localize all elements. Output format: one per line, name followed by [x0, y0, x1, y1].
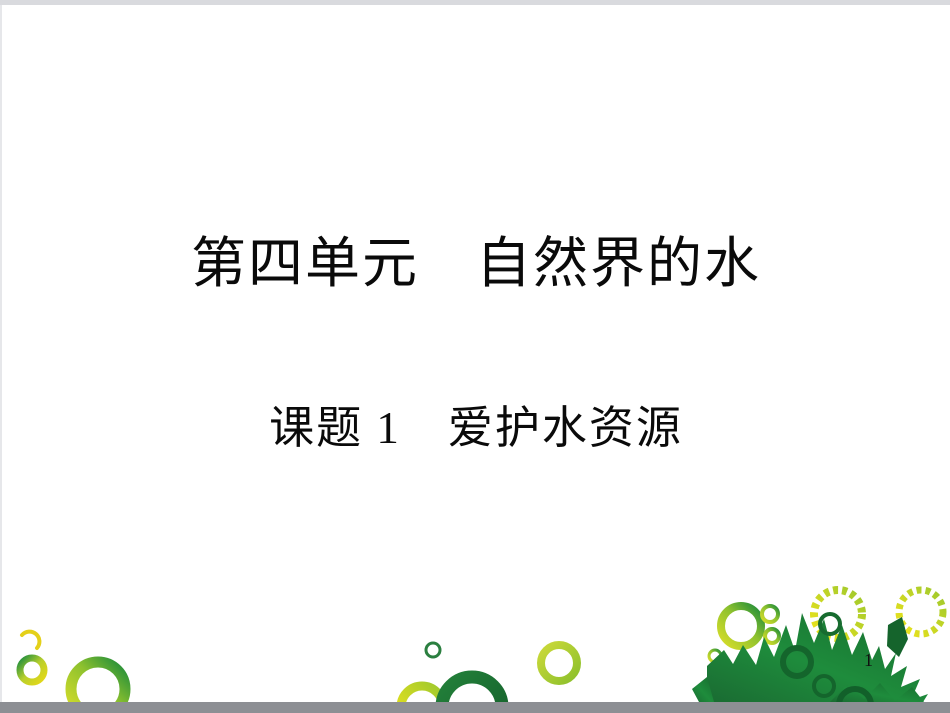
ring-above-leaf-right: [899, 590, 943, 634]
ring-bottom-left-small: [20, 658, 44, 682]
page-number: 1: [864, 650, 873, 671]
ring-near-leaf-large: [721, 606, 761, 646]
ring-leaf-inner-a: [783, 648, 811, 676]
decorative-artwork: [2, 5, 950, 702]
ring-leaf-inner-d: [820, 614, 840, 634]
slide-root: 第四单元 自然界的水 课题 1 爱护水资源 1: [0, 0, 950, 713]
ring-near-leaf-small: [762, 606, 778, 622]
ring-leaf-inner-b: [814, 676, 834, 696]
ring-near-leaf-xsmall: [765, 629, 779, 643]
ring-near-leaf-tiny: [709, 650, 721, 662]
slide-canvas: 第四单元 自然界的水 课题 1 爱护水资源: [2, 5, 950, 702]
ring-bottom-left-large: [71, 662, 125, 702]
ring-bottom-left-small-arc: [22, 632, 39, 648]
slide-subtitle: 课题 1 爱护水资源: [2, 403, 950, 455]
ring-mid-tiny: [426, 643, 440, 657]
circle-yellow-gradient: [732, 673, 786, 702]
ring-leaf-inner-c: [839, 689, 871, 702]
green-maple-leaf: [692, 613, 928, 702]
slide-title: 第四单元 自然界的水: [2, 233, 950, 295]
ring-center-yellowgreen: [541, 645, 577, 681]
ring-mid-green-large: [442, 677, 502, 702]
window-bottom-bar: [0, 702, 950, 713]
ring-mid-yellow-small: [401, 686, 443, 702]
ring-above-leaf-dotted: [814, 590, 862, 638]
